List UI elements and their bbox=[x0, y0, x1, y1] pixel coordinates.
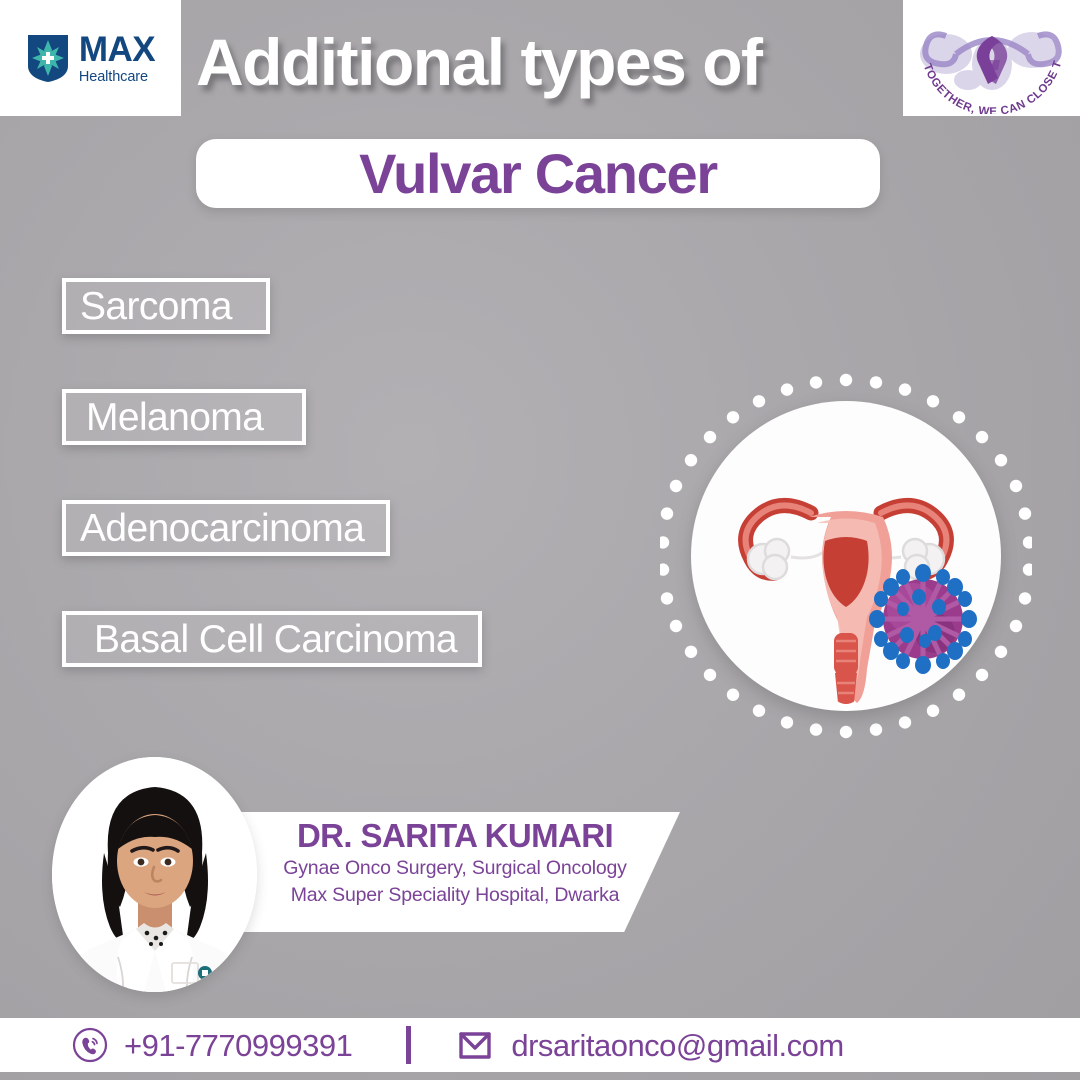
list-item-label: Melanoma bbox=[86, 398, 263, 437]
list-item-sarcoma[interactable]: Sarcoma bbox=[62, 278, 270, 334]
page-title-line2: Vulvar Cancer bbox=[359, 141, 717, 206]
doctor-specialty: Gynae Onco Surgery, Surgical Oncology bbox=[255, 855, 655, 882]
campaign-logo: TOGETHER, WE CAN CLOSE THE CARE GAP bbox=[903, 0, 1080, 116]
phone-contact[interactable]: +91-7770999391 bbox=[72, 1027, 352, 1063]
illustration-badge bbox=[660, 370, 1032, 742]
page-title-pill: Vulvar Cancer bbox=[196, 139, 880, 208]
poster-canvas: MAX Healthcare bbox=[0, 0, 1080, 1080]
doctor-portrait-avatar bbox=[52, 757, 257, 992]
illustration-circle bbox=[691, 401, 1001, 711]
contact-footer: +91-7770999391 drsaritaonco@gmail.com bbox=[0, 1018, 1080, 1072]
doctor-hospital: Max Super Speciality Hospital, Dwarka bbox=[255, 882, 655, 909]
email-address: drsaritaonco@gmail.com bbox=[511, 1030, 843, 1061]
doctor-info: DR. SARITA KUMARI Gynae Onco Surgery, Su… bbox=[255, 818, 655, 909]
max-healthcare-logo: MAX Healthcare bbox=[0, 0, 181, 116]
list-item-label: Adenocarcinoma bbox=[80, 509, 364, 548]
page-title-line1: Additional types of bbox=[196, 20, 886, 104]
list-item-label: Sarcoma bbox=[80, 287, 232, 326]
max-shield-star-icon bbox=[26, 33, 70, 83]
max-wordmark: MAX Healthcare bbox=[79, 32, 155, 85]
envelope-icon bbox=[455, 1027, 495, 1063]
max-logo-subtext: Healthcare bbox=[79, 70, 155, 85]
list-item-adenocarcinoma[interactable]: Adenocarcinoma bbox=[62, 500, 390, 556]
doctor-name: DR. SARITA KUMARI bbox=[255, 818, 655, 855]
phone-call-icon bbox=[72, 1027, 108, 1063]
email-contact[interactable]: drsaritaonco@gmail.com bbox=[455, 1027, 843, 1063]
uterus-anatomy-with-virus-icon bbox=[691, 401, 1001, 711]
purple-ribbon-uterus-world-map-icon: TOGETHER, WE CAN CLOSE THE CARE GAP bbox=[906, 2, 1078, 114]
phone-number: +91-7770999391 bbox=[124, 1030, 352, 1061]
list-item-basal-cell-carcinoma[interactable]: Basal Cell Carcinoma bbox=[62, 611, 482, 667]
list-item-label: Basal Cell Carcinoma bbox=[94, 620, 457, 659]
cancer-types-list: Sarcoma Melanoma Adenocarcinoma Basal Ce… bbox=[0, 278, 620, 722]
doctor-photo bbox=[52, 757, 257, 992]
list-item-melanoma[interactable]: Melanoma bbox=[62, 389, 306, 445]
footer-divider bbox=[406, 1026, 411, 1064]
max-logo-text: MAX bbox=[79, 32, 155, 67]
